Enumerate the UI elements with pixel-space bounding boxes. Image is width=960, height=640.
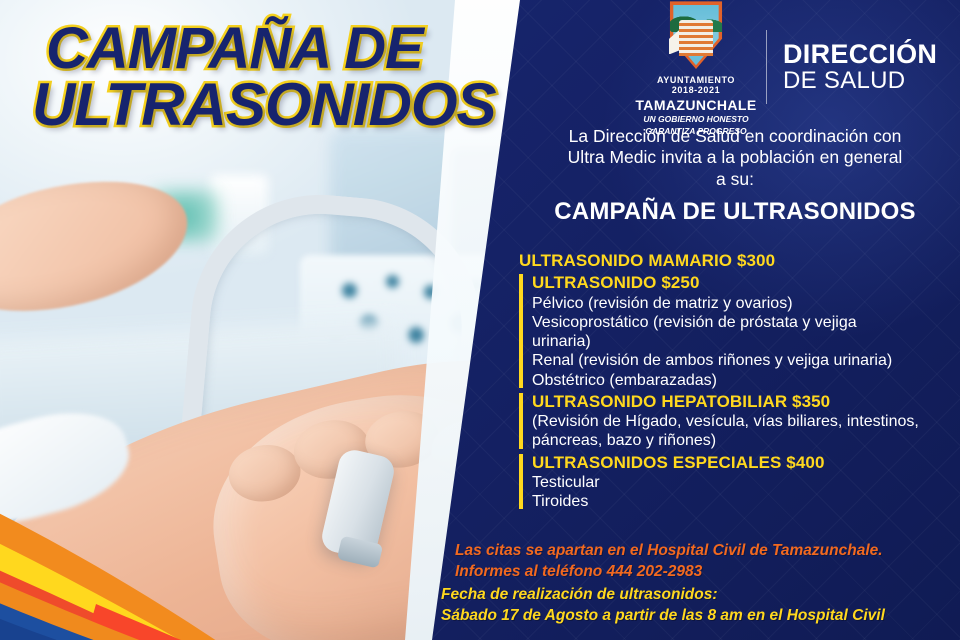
- ayuntamiento-label: AYUNTAMIENTO: [657, 75, 735, 85]
- direccion-line-2: DE SALUD: [783, 68, 937, 94]
- date-block: Fecha de realización de ultrasonidos: Sá…: [441, 584, 960, 627]
- service-heading: ULTRASONIDOS ESPECIALES $400: [532, 452, 955, 473]
- municipality-name: TAMAZUNCHALE: [635, 97, 756, 113]
- department-name: DIRECCIÓN DE SALUD: [783, 40, 937, 94]
- appointments-note: Las citas se apartan en el Hospital Civi…: [455, 541, 955, 562]
- title-line-2: ULTRASONIDOS: [32, 77, 566, 133]
- service-item: (Revisión de Hígado, vesícula, vías bili…: [532, 412, 955, 431]
- service-group: ULTRASONIDOS ESPECIALES $400 Testicular …: [519, 452, 955, 512]
- service-item: Obstétrico (embarazadas): [532, 371, 955, 390]
- service-heading: ULTRASONIDO $250: [532, 272, 955, 293]
- vertical-divider: [766, 30, 767, 104]
- term-years: 2018-2021: [672, 85, 720, 95]
- page-title: CAMPAÑA DE ULTRASONIDOS: [46, 22, 566, 133]
- intro-block: La Dirección de Salud en coordinación co…: [520, 126, 950, 226]
- intro-line-3: a su:: [520, 169, 950, 190]
- service-item: Vesicoprostático (revisión de próstata y…: [532, 313, 955, 332]
- intro-line-1: La Dirección de Salud en coordinación co…: [520, 126, 950, 147]
- service-item: Renal (revisión de ambos riñones y vejig…: [532, 351, 955, 370]
- service-item: Tiroides: [532, 492, 955, 511]
- coat-of-arms-icon: [665, 0, 727, 70]
- title-line-1: CAMPAÑA DE: [46, 22, 566, 77]
- service-item: páncreas, bazo y riñones): [532, 431, 955, 450]
- intro-line-2: Ultra Medic invita a la población en gen…: [520, 147, 950, 168]
- service-item: Testicular: [532, 473, 955, 492]
- campaign-name: CAMPAÑA DE ULTRASONIDOS: [520, 197, 950, 226]
- contact-block: Las citas se apartan en el Hospital Civi…: [455, 541, 955, 583]
- building-motif: [679, 20, 713, 56]
- service-list: ULTRASONIDO MAMARIO $300 ULTRASONIDO $25…: [519, 250, 955, 511]
- service-item: urinaria): [532, 332, 955, 351]
- service-heading: ULTRASONIDO HEPATOBILIAR $350: [532, 391, 955, 412]
- poster-root: CAMPAÑA DE ULTRASONIDOS AYUNTAMIENTO 201…: [0, 0, 960, 640]
- phone-line: Informes al teléfono 444 202-2983: [455, 562, 955, 583]
- service-group: ULTRASONIDO HEPATOBILIAR $350 (Revisión …: [519, 391, 955, 451]
- service-heading: ULTRASONIDO MAMARIO $300: [519, 250, 955, 271]
- service-group: ULTRASONIDO $250 Pélvico (revisión de ma…: [519, 272, 955, 389]
- brand-header: AYUNTAMIENTO 2018-2021 TAMAZUNCHALE UN G…: [630, 8, 950, 126]
- service-item: Pélvico (revisión de matriz y ovarios): [532, 294, 955, 313]
- slogan-line-1: UN GOBIERNO HONESTO: [643, 114, 748, 124]
- sonographer-arm: [0, 158, 201, 335]
- municipality-logo: AYUNTAMIENTO 2018-2021 TAMAZUNCHALE UN G…: [630, 0, 762, 136]
- date-label: Fecha de realización de ultrasonidos:: [441, 584, 960, 605]
- date-value: Sábado 17 de Agosto a partir de las 8 am…: [441, 605, 960, 626]
- direccion-line-1: DIRECCIÓN: [783, 40, 937, 68]
